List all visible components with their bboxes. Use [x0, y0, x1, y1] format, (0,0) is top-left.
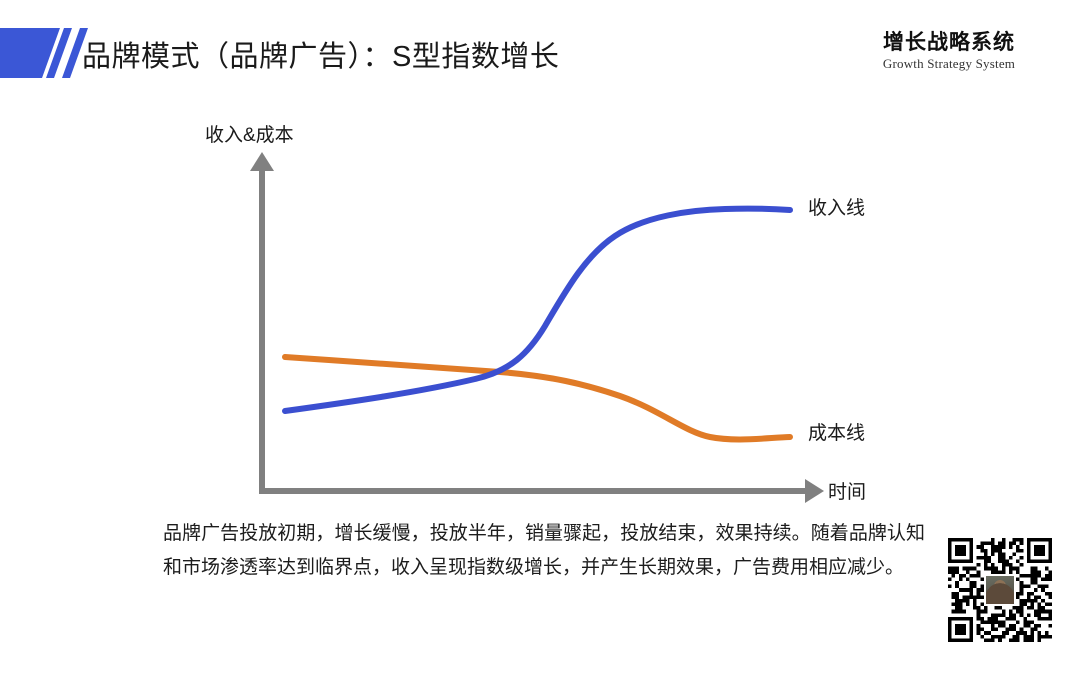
s-curve-chart	[0, 96, 1080, 516]
description-paragraph: 品牌广告投放初期，增长缓慢，投放半年，销量骤起，投放结束，效果持续。随着品牌认知…	[163, 517, 925, 585]
y-axis-label: 收入&成本	[205, 120, 294, 147]
revenue-series-label: 收入线	[808, 193, 865, 220]
y-axis	[250, 152, 274, 494]
page-title: 品牌模式（品牌广告）：S型指数增长	[82, 33, 559, 75]
chart-container: 收入&成本 时间 收入线 成本线	[0, 96, 1080, 516]
person-avatar	[984, 574, 1016, 606]
brand-name-en: Growth Strategy System	[844, 56, 1054, 72]
brand-name-cn: 增长战略系统	[844, 30, 1054, 54]
cost-series-label: 成本线	[808, 418, 865, 445]
slide-header: 品牌模式（品牌广告）：S型指数增长 增长战略系统 Growth Strategy…	[0, 0, 1080, 96]
x-axis-label: 时间	[828, 477, 866, 504]
revenue-curve	[285, 209, 790, 411]
qr-code[interactable]	[948, 538, 1052, 642]
x-axis	[259, 479, 824, 503]
brand-block: 增长战略系统 Growth Strategy System	[844, 30, 1054, 72]
